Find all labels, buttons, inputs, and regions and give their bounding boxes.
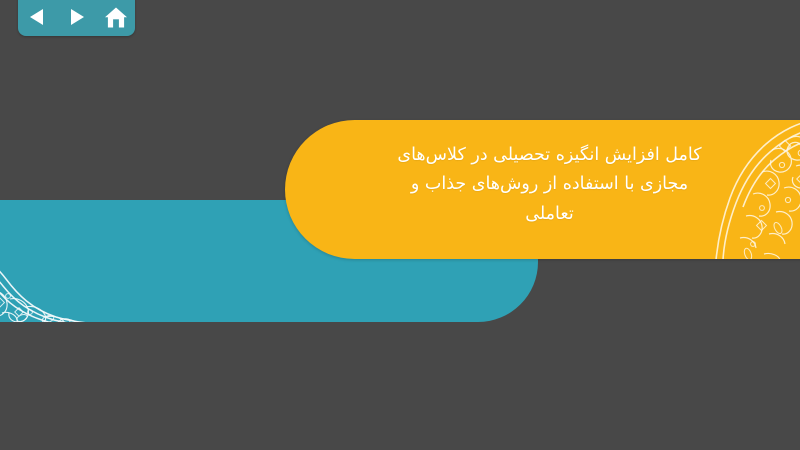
navigation-toolbar xyxy=(18,0,135,36)
home-button[interactable] xyxy=(101,4,131,30)
next-slide-button[interactable] xyxy=(62,4,92,30)
previous-slide-button[interactable] xyxy=(23,4,53,30)
slide-title: کامل افزایش انگیزه تحصیلی در کلاس‌های مج… xyxy=(322,141,777,229)
arabesque-ornament-teal xyxy=(0,219,110,322)
home-icon xyxy=(104,6,128,29)
triangle-right-icon xyxy=(68,8,85,26)
triangle-left-icon xyxy=(29,8,46,26)
presentation-slide: کامل افزایش انگیزه تحصیلی در کلاس‌های مج… xyxy=(0,0,800,450)
title-panel: کامل افزایش انگیزه تحصیلی در کلاس‌های مج… xyxy=(285,120,800,259)
